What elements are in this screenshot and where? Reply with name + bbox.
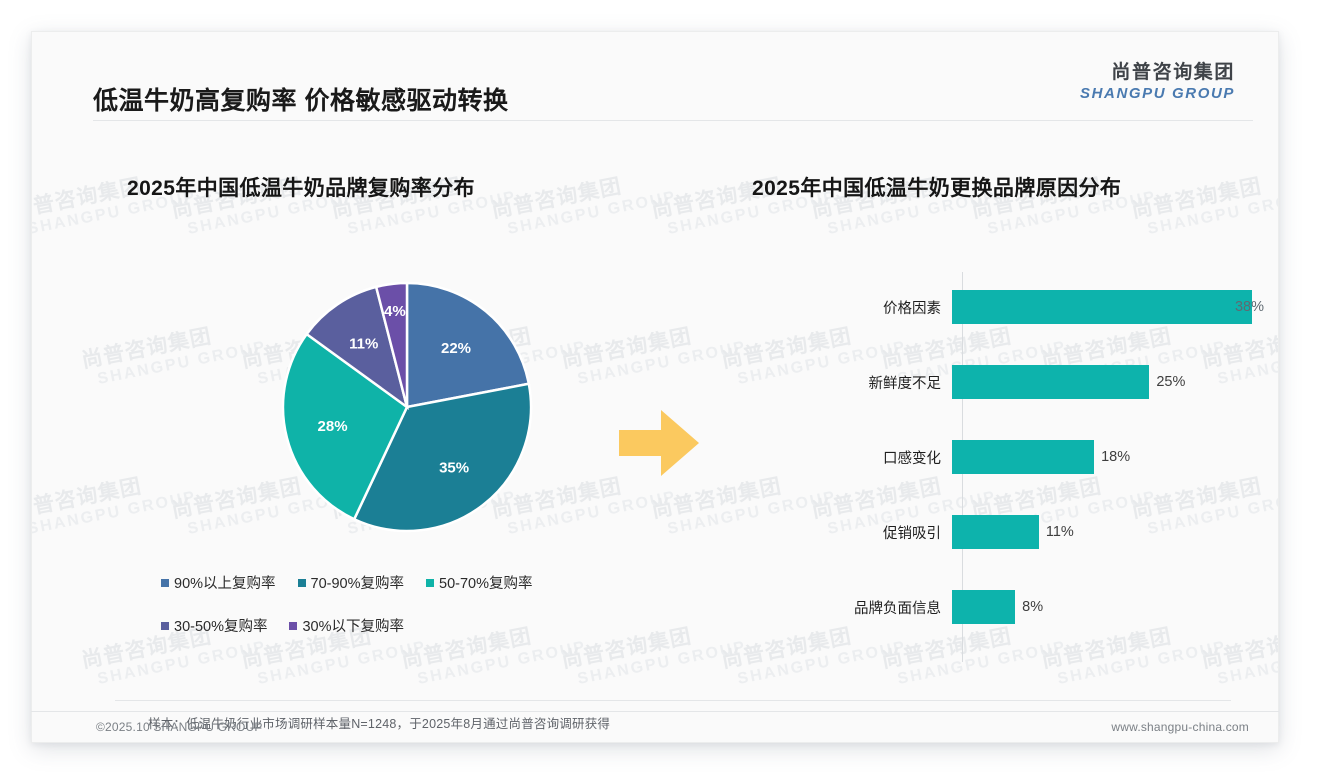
bar-fill[interactable] (952, 590, 1015, 624)
bar-chart-area: 价格因素38%新鲜度不足25%口感变化18%促销吸引11%品牌负面信息8% (752, 272, 1272, 672)
bar-track: 25% (952, 365, 1272, 399)
slide-bottom-bar: ©2025.10 SHANGPU GROUP www.shangpu-china… (31, 711, 1279, 743)
logo-chinese-text: 尚普咨询集团 (1080, 62, 1235, 84)
bar-fill[interactable] (952, 515, 1039, 549)
legend-row: 90%以上复购率70-90%复购率50-70%复购率 (161, 572, 681, 593)
pie-slice-label: 28% (318, 418, 348, 435)
pie-chart-svg: 22%35%28%11%4% (257, 262, 557, 552)
legend-label: 70-90%复购率 (311, 572, 404, 593)
arrow-right-icon (617, 404, 701, 482)
bar-value-label: 8% (1022, 599, 1043, 615)
bar-category-label: 口感变化 (752, 447, 952, 468)
bar-track: 38% (952, 290, 1272, 324)
bar-row: 价格因素38% (752, 290, 1272, 324)
legend-label: 50-70%复购率 (439, 572, 532, 593)
slide-canvas: 尚普咨询集团SHANGPU GROUP尚普咨询集团SHANGPU GROUP尚普… (0, 0, 1340, 780)
bar-chart-panel: 2025年中国低温牛奶更换品牌原因分布 价格因素38%新鲜度不足25%口感变化1… (752, 172, 1272, 682)
bottom-divider (31, 711, 1279, 712)
arrow-right-glyph (617, 404, 701, 482)
legend-swatch-icon (161, 622, 169, 630)
pie-slice-label: 11% (349, 335, 378, 352)
footnote-divider (115, 700, 1231, 701)
website-url[interactable]: www.shangpu-china.com (1111, 720, 1249, 734)
legend-item[interactable]: 50-70%复购率 (426, 572, 532, 593)
pie-chart-panel: 2025年中国低温牛奶品牌复购率分布 22%35%28%11%4% 90%以上复… (127, 172, 687, 682)
bar-value-label: 18% (1101, 449, 1130, 465)
report-card: 尚普咨询集团SHANGPU GROUP尚普咨询集团SHANGPU GROUP尚普… (31, 31, 1279, 743)
bar-track: 11% (952, 515, 1272, 549)
header-divider (93, 120, 1253, 121)
page-title: 低温牛奶高复购率 价格敏感驱动转换 (93, 81, 508, 117)
legend-item[interactable]: 30-50%复购率 (161, 615, 267, 636)
legend-item[interactable]: 70-90%复购率 (298, 572, 404, 593)
slide-header: 低温牛奶高复购率 价格敏感驱动转换 尚普咨询集团 SHANGPU GROUP (32, 32, 1278, 121)
bar-fill[interactable] (952, 290, 1252, 324)
pie-slice-label: 4% (384, 303, 406, 320)
pie-chart-area: 22%35%28%11%4% (127, 262, 687, 562)
pie-slice-label: 22% (441, 340, 471, 357)
bar-category-label: 价格因素 (752, 297, 952, 318)
bar-row: 新鲜度不足25% (752, 365, 1272, 399)
bar-fill[interactable] (952, 440, 1094, 474)
bar-chart-title: 2025年中国低温牛奶更换品牌原因分布 (752, 172, 1272, 202)
bar-fill[interactable] (952, 365, 1149, 399)
legend-label: 30%以下复购率 (302, 615, 404, 636)
bar-row: 口感变化18% (752, 440, 1272, 474)
pie-chart-title: 2025年中国低温牛奶品牌复购率分布 (127, 172, 687, 202)
bar-value-label: 25% (1156, 374, 1185, 390)
pie-slice-label: 35% (439, 460, 469, 477)
pie-legend: 90%以上复购率70-90%复购率50-70%复购率30-50%复购率30%以下… (161, 572, 681, 658)
legend-label: 30-50%复购率 (174, 615, 267, 636)
bar-category-label: 促销吸引 (752, 522, 952, 543)
bar-track: 8% (952, 590, 1272, 624)
legend-row: 30-50%复购率30%以下复购率 (161, 615, 681, 636)
legend-swatch-icon (426, 579, 434, 587)
legend-item[interactable]: 90%以上复购率 (161, 572, 276, 593)
legend-swatch-icon (289, 622, 297, 630)
copyright-text: ©2025.10 SHANGPU GROUP (96, 720, 263, 734)
legend-item[interactable]: 30%以下复购率 (289, 615, 404, 636)
legend-swatch-icon (298, 579, 306, 587)
logo-english-text: SHANGPU GROUP (1080, 85, 1235, 103)
bar-value-label: 11% (1046, 524, 1074, 540)
bar-category-label: 品牌负面信息 (752, 597, 952, 618)
bar-category-label: 新鲜度不足 (752, 372, 952, 393)
bar-value-label: 38% (1235, 299, 1264, 315)
legend-label: 90%以上复购率 (174, 572, 276, 593)
legend-swatch-icon (161, 579, 169, 587)
bar-row: 促销吸引11% (752, 515, 1272, 549)
bar-track: 18% (952, 440, 1272, 474)
brand-logo: 尚普咨询集团 SHANGPU GROUP (1080, 62, 1235, 103)
bar-row: 品牌负面信息8% (752, 590, 1272, 624)
